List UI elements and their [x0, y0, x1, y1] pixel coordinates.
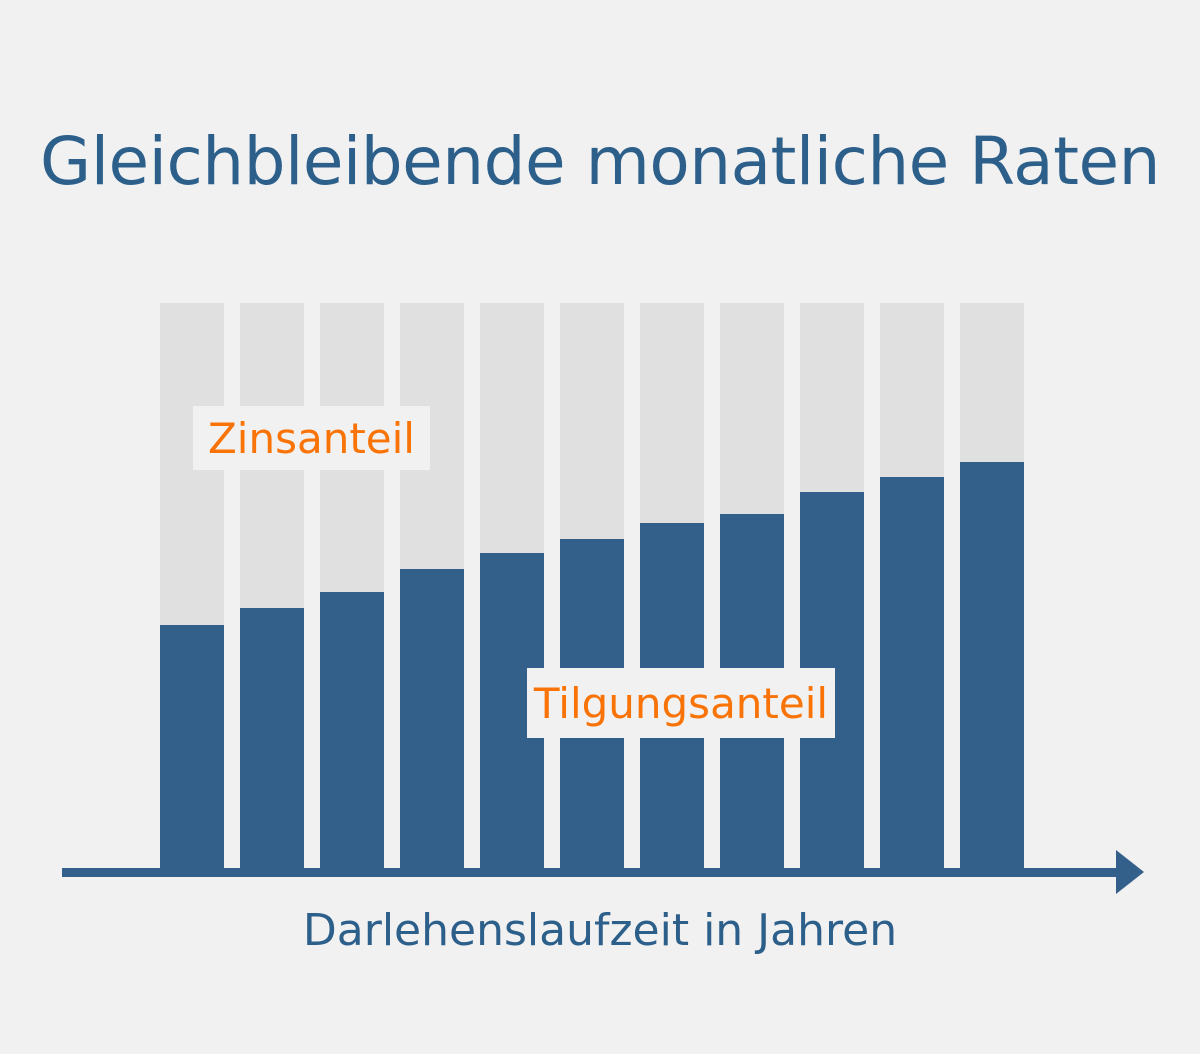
bar-segment-tilgungsanteil — [240, 608, 304, 873]
bar-group — [160, 303, 224, 873]
bar-segment-tilgungsanteil — [400, 569, 464, 873]
bar-group — [960, 303, 1024, 873]
plot-area — [0, 0, 1200, 1054]
bar-group — [880, 303, 944, 873]
series-label-zinsanteil: Zinsanteil — [193, 406, 430, 470]
x-axis-arrow-icon — [1116, 850, 1144, 894]
series-label-tilgungsanteil: Tilgungsanteil — [527, 668, 835, 738]
chart-container: Gleichbleibende monatliche Raten Zinsant… — [0, 0, 1200, 1054]
x-axis-line — [62, 868, 1124, 877]
bar-segment-tilgungsanteil — [960, 462, 1024, 873]
bar-segment-tilgungsanteil — [880, 477, 944, 873]
bar-group — [400, 303, 464, 873]
bar-group — [800, 303, 864, 873]
x-axis-caption: Darlehenslaufzeit in Jahren — [0, 903, 1200, 959]
bar-group — [320, 303, 384, 873]
bar-group — [560, 303, 624, 873]
bar-group — [240, 303, 304, 873]
bar-group — [720, 303, 784, 873]
bar-segment-tilgungsanteil — [160, 625, 224, 873]
bar-group — [480, 303, 544, 873]
bar-segment-tilgungsanteil — [320, 592, 384, 873]
bar-group — [640, 303, 704, 873]
